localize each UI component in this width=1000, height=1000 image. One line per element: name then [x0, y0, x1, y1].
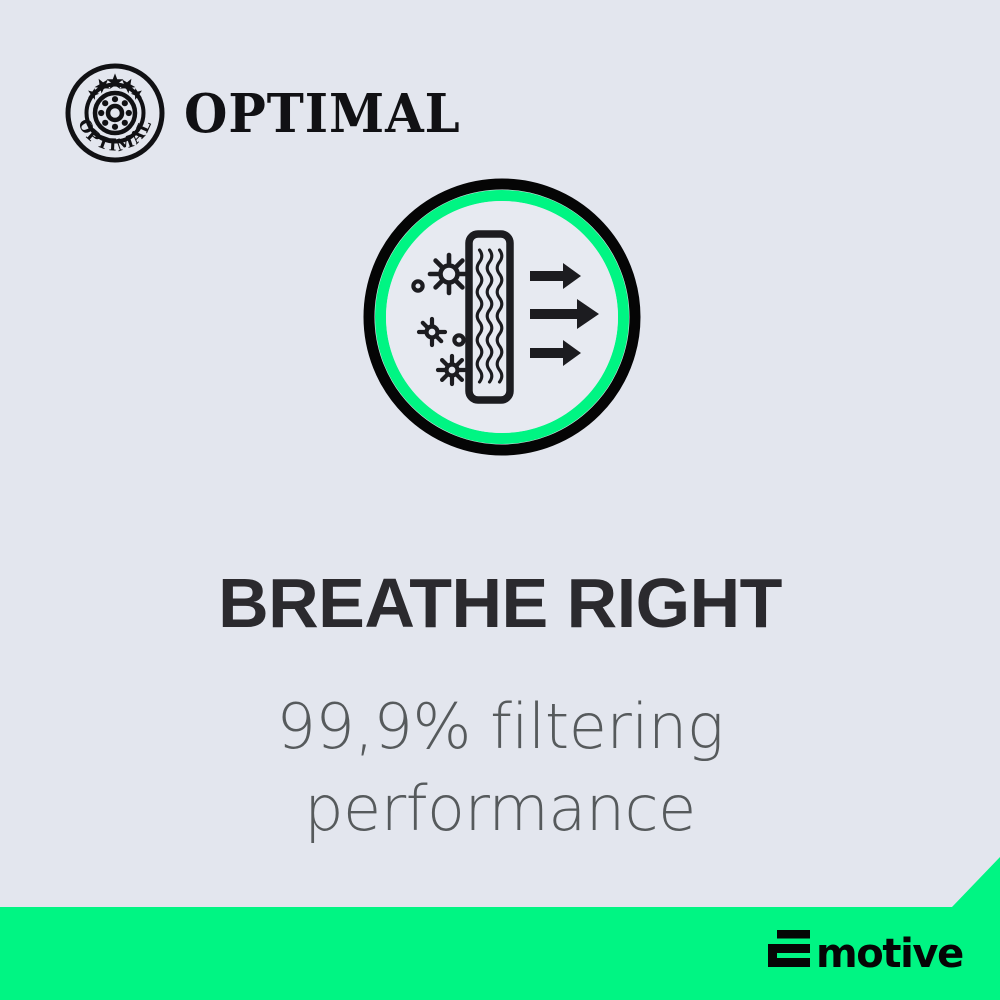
brand-header: OPTIMAL OPTIMAL: [64, 62, 478, 164]
subtitle-line-2: performance: [0, 768, 1000, 850]
emotive-logo: motive: [768, 928, 964, 976]
footer-band: motive: [0, 855, 1000, 1000]
emotive-logo-text: motive: [816, 931, 963, 976]
brand-wordmark: OPTIMAL: [184, 88, 461, 141]
subtitle: 99,9% filtering performance: [0, 686, 1000, 850]
air-filter-circle-icon: [363, 178, 641, 456]
poster-canvas: OPTIMAL OPTIMAL: [0, 0, 1000, 1000]
optimal-emblem-icon: OPTIMAL: [64, 62, 166, 164]
page-title: BREATHE RIGHT: [0, 568, 1000, 638]
subtitle-line-1: 99,9% filtering: [0, 686, 1000, 768]
